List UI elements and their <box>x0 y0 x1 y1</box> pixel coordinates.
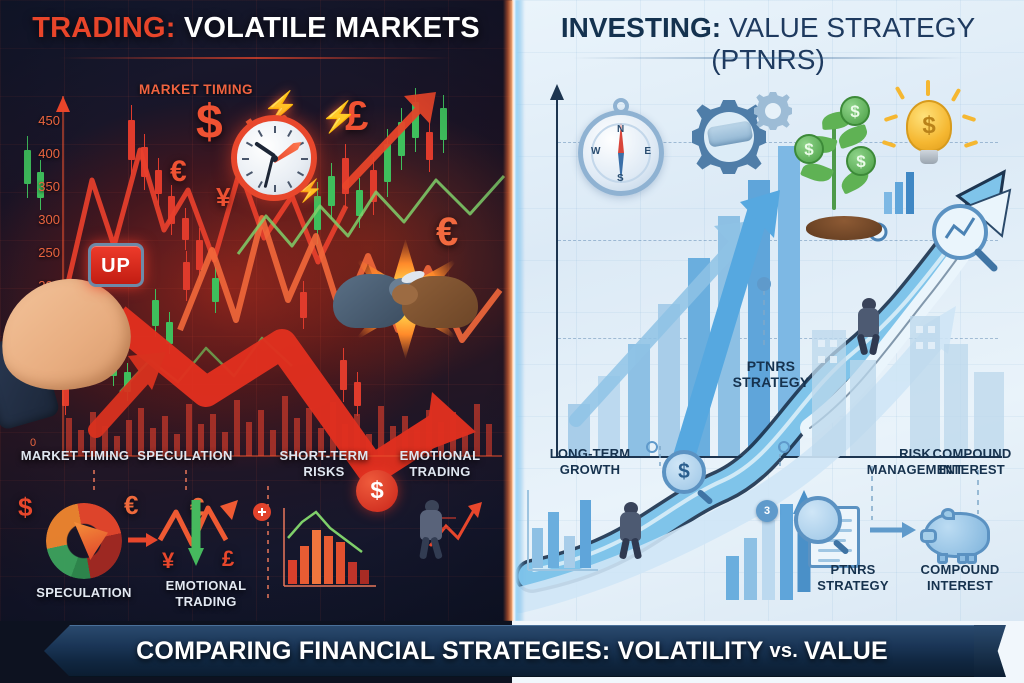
compass-east: E <box>644 146 651 157</box>
compass-icon: N E S W <box>578 110 664 196</box>
magnifier-icon-strategy <box>794 496 842 544</box>
dollar-coin-icon: $ <box>356 470 398 512</box>
businessman-walking-up <box>612 502 652 560</box>
left-panel-trading: 450 400 350 300 250 200 150 0 TRADING: V… <box>0 0 512 621</box>
tree-coin-3: $ <box>846 146 876 176</box>
banner-main-text: COMPARING FINANCIAL STRATEGIES: VOLATILI… <box>136 637 763 666</box>
right-title-accent: INVESTING: <box>561 12 721 43</box>
step-marker-3: 3 <box>756 500 778 522</box>
label-compound-interest: COMPOUND INTEREST <box>922 446 1022 478</box>
right-title-rest: VALUE STRATEGY (PTNRS) <box>711 12 975 75</box>
soil-mound <box>806 216 882 240</box>
banner-tail-text: VALUE <box>804 637 888 666</box>
right-panel-title: INVESTING: VALUE STRATEGY (PTNRS) <box>512 12 1024 76</box>
magnifier-dollar-symbol: $ <box>666 454 702 490</box>
piggy-bank-icon <box>924 512 990 558</box>
right-title-divider <box>572 57 964 59</box>
label-ptnrs-strategy-bottom: PTNRS STRATEGY <box>802 562 904 594</box>
banner-vs-text: vs. <box>770 640 798 663</box>
label-long-term-growth: LONG-TERM GROWTH <box>534 446 646 478</box>
mini-bars-under-bulb <box>884 172 914 214</box>
magnifier-dollar-icon: $ <box>662 450 706 494</box>
compass-north: N <box>617 124 624 135</box>
infographic-canvas: 450 400 350 300 250 200 150 0 TRADING: V… <box>0 0 1024 683</box>
label-speculation-bottom: SPECULATION <box>24 585 144 601</box>
label-ptnrs-strategy: PTNRS STRATEGY <box>712 358 830 390</box>
bulb-dollar-symbol: $ <box>908 112 950 140</box>
money-tree-icon: $ $ $ <box>784 88 888 238</box>
label-compound-interest-bottom: COMPOUND INTEREST <box>906 562 1014 594</box>
lightbulb-icon: $ <box>906 100 952 152</box>
tree-coin-1: $ <box>840 96 870 126</box>
label-emotional-trading-bottom: EMOTIONAL TRADING <box>148 578 264 610</box>
bottom-banner-text: COMPARING FINANCIAL STRATEGIES: VOLATILI… <box>44 625 980 677</box>
mini-bar-chart <box>284 508 376 586</box>
compass-west: W <box>591 146 600 157</box>
right-panel-investing: $ $ INVESTING: VALUE STRATEGY (PTNRS) N … <box>512 0 1024 621</box>
center-divider-glow <box>503 0 525 621</box>
businessman-walking-down <box>412 500 454 560</box>
businessman-climbing <box>850 298 890 356</box>
tree-coin-2: $ <box>794 134 824 164</box>
compass-south: S <box>617 173 624 184</box>
